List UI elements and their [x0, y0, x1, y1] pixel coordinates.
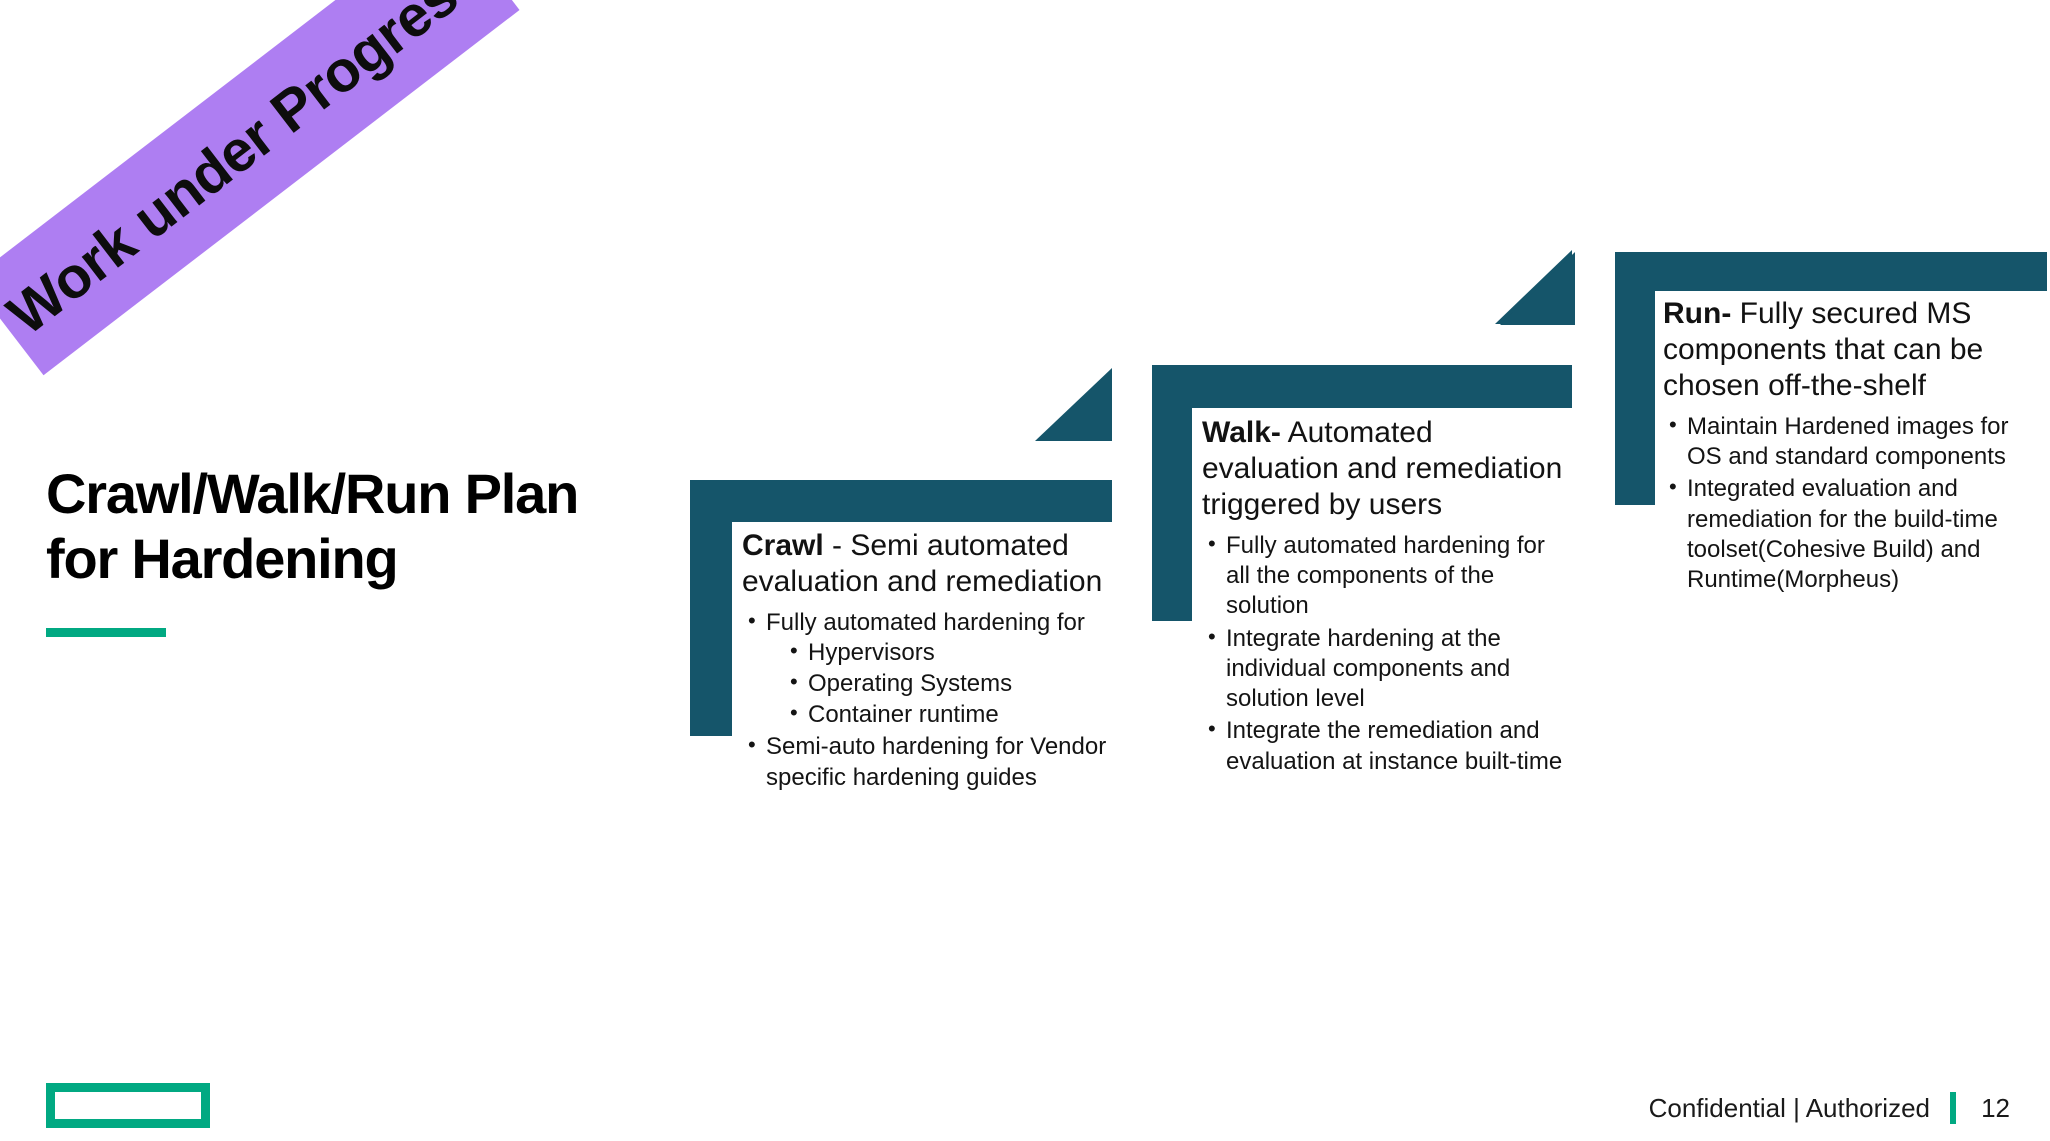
- work-under-progress-label: Work under Progress: [0, 0, 495, 348]
- slide-canvas: Work under Progress Crawl/Walk/Run Plan …: [0, 0, 2050, 1141]
- title-accent-rule: [46, 628, 166, 637]
- card-left-bar: [1615, 291, 1655, 505]
- card-heading-crawl: Crawl - Semi automated evaluation and re…: [742, 528, 1112, 600]
- list-item: Hypervisors: [784, 638, 1112, 669]
- sub-bullet-text: Operating Systems: [808, 670, 1012, 697]
- work-under-progress-banner: Work under Progress: [0, 0, 520, 375]
- card-heading-run: Run- Fully secured MS components that ca…: [1663, 296, 2033, 404]
- bullet-text: Semi-auto hardening for Vendor specific …: [766, 733, 1106, 790]
- card-body: Crawl - Semi automated evaluation and re…: [742, 528, 1112, 795]
- hpe-logo-icon: [46, 1083, 210, 1128]
- step-triangle-icon: [1035, 368, 1112, 441]
- card-top-bar: [1615, 252, 2047, 291]
- page-title: Crawl/Walk/Run Plan for Hardening: [46, 462, 646, 637]
- footer-classification: Confidential | Authorized: [1649, 1093, 1930, 1124]
- footer-divider: [1950, 1092, 1956, 1124]
- card-left-bar: [690, 522, 732, 736]
- list-item: Maintain Hardened images for OS and stan…: [1663, 412, 2033, 472]
- list-item: Semi-auto hardening for Vendor specific …: [742, 732, 1112, 792]
- card-heading-walk: Walk- Automated evaluation and remediati…: [1202, 415, 1574, 523]
- list-item: Integrate hardening at the individual co…: [1202, 624, 1574, 715]
- bullet-text: Maintain Hardened images for OS and stan…: [1687, 413, 2009, 470]
- step-triangle-icon: [1500, 252, 1575, 325]
- card-body: Walk- Automated evaluation and remediati…: [1202, 415, 1574, 779]
- bullet-text: Fully automated hardening for: [766, 609, 1085, 636]
- footer: Confidential | Authorized 12: [1649, 1092, 2010, 1124]
- card-left-bar: [1152, 408, 1192, 621]
- title-heading: Crawl/Walk/Run Plan for Hardening: [46, 462, 646, 592]
- card-sub-bullet-list: Hypervisors Operating Systems Container …: [766, 638, 1112, 730]
- list-item: Operating Systems: [784, 669, 1112, 700]
- page-number: 12: [1976, 1093, 2010, 1124]
- sub-bullet-text: Hypervisors: [808, 639, 935, 666]
- card-top-bar: [690, 480, 1112, 522]
- bullet-text: Integrate the remediation and evaluation…: [1226, 717, 1562, 774]
- bullet-text: Integrated evaluation and remediation fo…: [1687, 475, 1998, 593]
- card-top-bar: [1152, 365, 1572, 408]
- list-item: Container runtime: [784, 700, 1112, 731]
- card-body: Run- Fully secured MS components that ca…: [1663, 296, 2033, 597]
- card-bullet-list: Maintain Hardened images for OS and stan…: [1663, 412, 2033, 595]
- card-heading-bold: Walk-: [1202, 416, 1281, 449]
- sub-bullet-text: Container runtime: [808, 701, 999, 728]
- bullet-text: Fully automated hardening for all the co…: [1226, 532, 1545, 619]
- card-bullet-list: Fully automated hardening for all the co…: [1202, 531, 1574, 777]
- list-item: Fully automated hardening for all the co…: [1202, 531, 1574, 622]
- card-heading-bold: Run-: [1663, 297, 1731, 330]
- card-bullet-list: Fully automated hardening for Hypervisor…: [742, 608, 1112, 793]
- list-item: Fully automated hardening for Hypervisor…: [742, 608, 1112, 730]
- title-line-2: for Hardening: [46, 527, 398, 590]
- card-heading-bold: Crawl: [742, 529, 824, 562]
- list-item: Integrated evaluation and remediation fo…: [1663, 474, 2033, 595]
- list-item: Integrate the remediation and evaluation…: [1202, 716, 1574, 776]
- bullet-text: Integrate hardening at the individual co…: [1226, 625, 1510, 712]
- title-line-1: Crawl/Walk/Run Plan: [46, 462, 578, 525]
